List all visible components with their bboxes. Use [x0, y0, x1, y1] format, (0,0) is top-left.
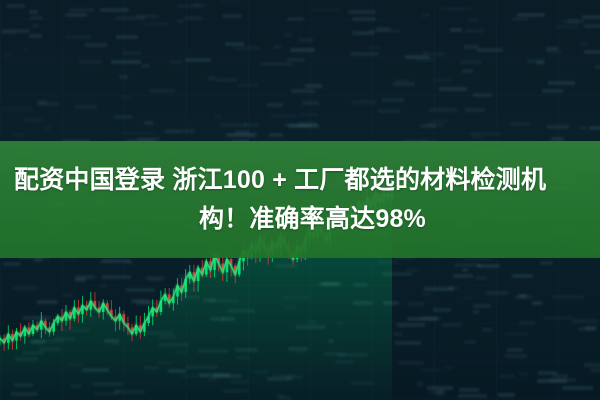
headline-text-block: 配资中国登录 浙江100 + 工厂都选的材料检测机 构！准确率高达98%	[0, 141, 600, 258]
headline-line-2: 构！准确率高达98%	[14, 200, 586, 239]
promo-banner-image: 配资中国登录 浙江100 + 工厂都选的材料检测机 构！准确率高达98%	[0, 0, 600, 400]
headline-line-1: 配资中国登录 浙江100 + 工厂都选的材料检测机	[14, 161, 586, 200]
